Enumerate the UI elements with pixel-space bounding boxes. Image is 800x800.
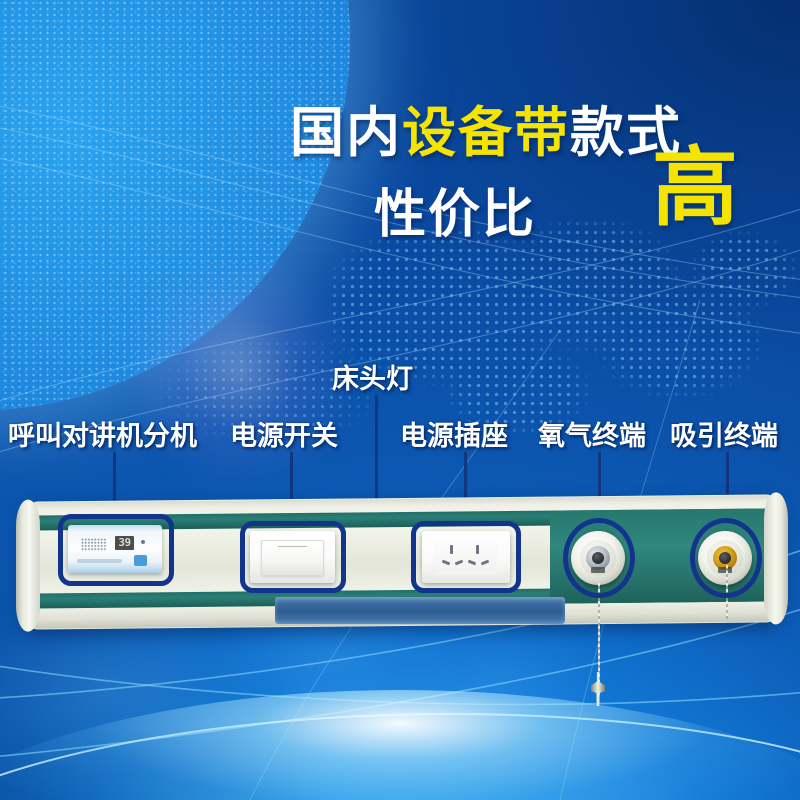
highlight-box-intercom [58,514,174,586]
highlight-box-power-outlet [411,521,521,593]
headline-secondary: 性价比 [374,172,536,247]
promo-image-stage: 国内设备带款式 性价比 高 呼叫对讲机分机 电源开关 床头灯 电源插座 氧气终端… [0,0,800,800]
callout-label-power-outlet: 电源插座 [400,414,508,453]
callout-label-power-switch: 电源开关 [230,414,338,453]
callout-label-suction-outlet: 吸引终端 [670,414,778,453]
headline-emphasis: 高 [652,145,738,231]
highlight-box-power-switch [240,521,346,593]
highlight-circle-oxygen [563,518,635,598]
panel-end-cap-left [16,499,40,631]
callout-label-bed-lamp: 床头灯 [332,357,413,396]
callout-label-oxygen-outlet: 氧气终端 [538,414,646,453]
headline-primary-highlight: 设备带 [402,103,570,163]
highlight-circle-suction [690,518,762,598]
headline-primary-part1: 国内 [290,103,402,163]
panel-end-cap-right [764,492,788,624]
headline-primary: 国内设备带款式 [290,88,682,167]
bed-lamp-diffuser[interactable] [275,597,565,624]
callout-label-intercom: 呼叫对讲机分机 [8,414,197,453]
